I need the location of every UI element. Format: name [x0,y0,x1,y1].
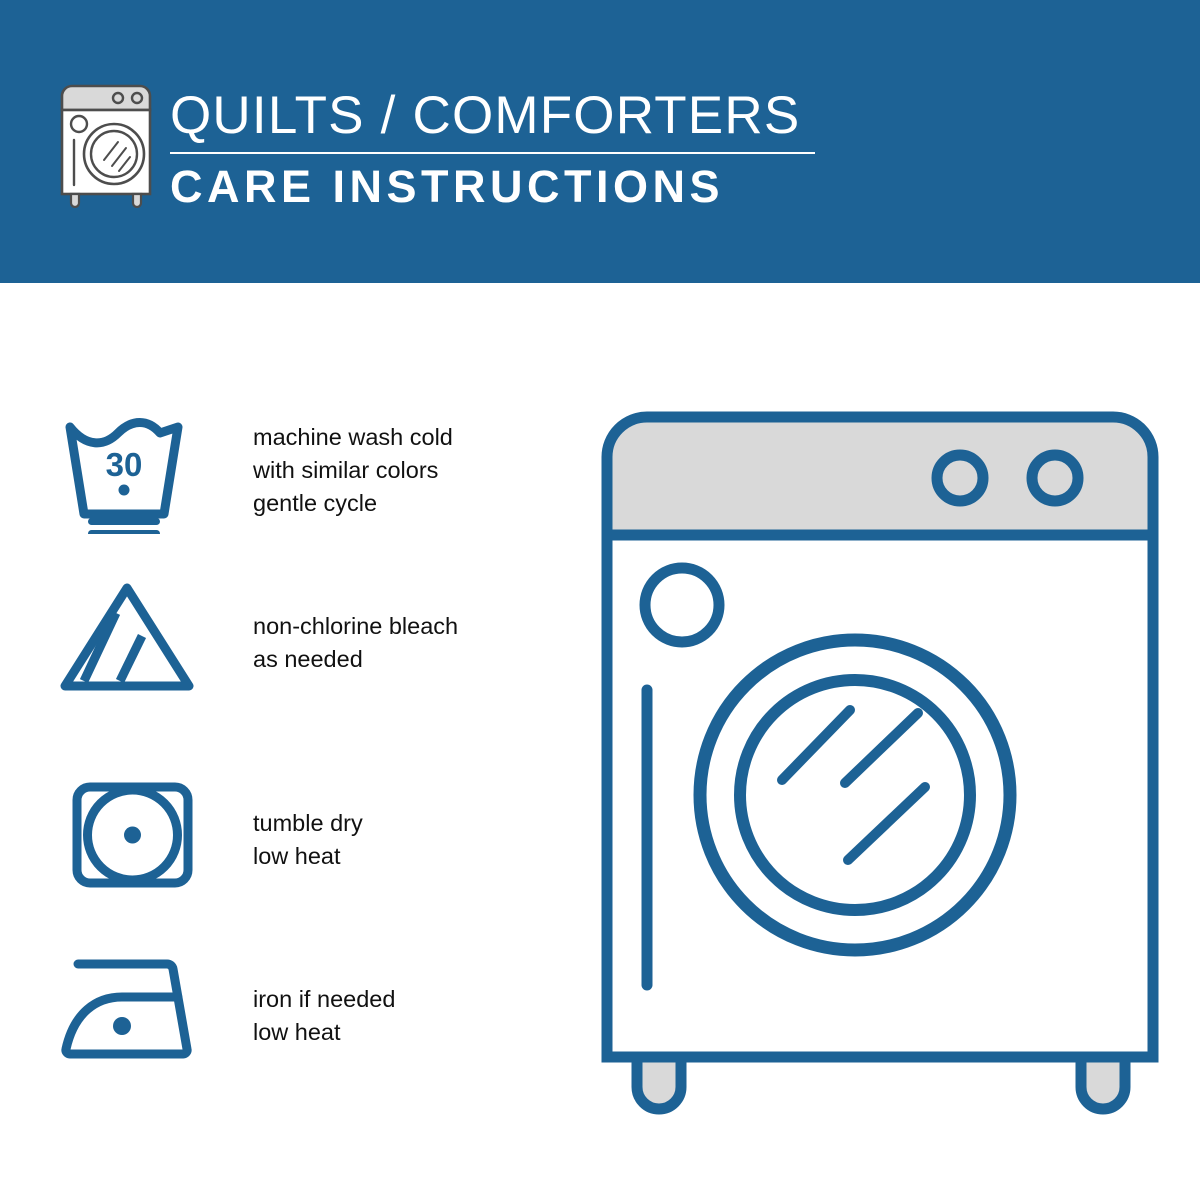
care-line: as needed [253,643,543,676]
wash-tub-icon: 30 [60,414,200,534]
title-divider [170,152,815,154]
tumble-dry-icon [60,779,200,899]
care-text-bleach: non-chlorine bleach as needed [253,610,543,676]
care-line: tumble dry [253,807,543,840]
care-line: with similar colors [253,454,543,487]
iron-icon [60,951,200,1071]
header-title-block: QUILTS / COMFORTERS CARE INSTRUCTIONS [170,86,820,212]
care-text-wash: machine wash cold with similar colors ge… [253,421,543,520]
page-title: QUILTS / COMFORTERS [170,86,820,146]
washer-foot [1081,1057,1125,1109]
control-panel [607,417,1153,535]
care-line: gentle cycle [253,487,543,520]
header-banner: QUILTS / COMFORTERS CARE INSTRUCTIONS [0,0,1200,283]
washing-machine-icon [52,82,160,208]
care-text-tumble-dry: tumble dry low heat [253,807,543,873]
washer-foot [637,1057,681,1109]
front-load-washing-machine-illustration [595,405,1165,1115]
care-instruction-list: 30 machine wash cold with similar colors… [0,283,560,1200]
care-line: low heat [253,840,543,873]
care-line: machine wash cold [253,421,543,454]
care-line: low heat [253,1016,543,1049]
washer-body [607,535,1153,1057]
care-text-iron: iron if needed low heat [253,983,543,1049]
care-line: iron if needed [253,983,543,1016]
page-subtitle: CARE INSTRUCTIONS [170,162,820,212]
svg-text:30: 30 [106,446,143,483]
bleach-triangle-icon [60,583,200,703]
care-line: non-chlorine bleach [253,610,543,643]
